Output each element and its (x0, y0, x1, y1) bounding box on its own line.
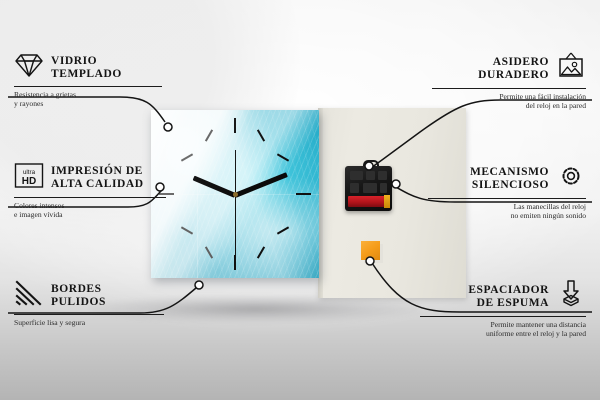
feature-title: ESPACIADOR DE ESPUMA (468, 284, 549, 309)
feature-title: ASIDERO DURADERO (478, 56, 549, 81)
feature-divider (14, 86, 162, 87)
foam-spacer (361, 241, 380, 260)
feature-description: Las manecillas del reloj no emiten ningú… (428, 202, 586, 221)
feature-bordes-pulidos: BORDES PULIDOS Superficie lisa y segura (14, 280, 164, 327)
feature-description: Permite una fácil instalación del reloj … (432, 92, 586, 111)
feature-description: Colores intensos e imagen vívida (14, 201, 166, 220)
feature-description: Resistencia a grietas y rayones (14, 90, 162, 109)
feature-title: VIDRIO TEMPLADO (51, 55, 122, 80)
feature-divider (14, 197, 166, 198)
battery-positive-cap (384, 195, 390, 208)
feature-title: BORDES PULIDOS (51, 283, 106, 308)
svg-text:HD: HD (22, 176, 36, 187)
feature-description: Superficie lisa y segura (14, 318, 164, 327)
feature-vidrio-templado: VIDRIO TEMPLADO Resistencia a grietas y … (14, 52, 162, 109)
infographic-canvas: VIDRIO TEMPLADO Resistencia a grietas y … (0, 0, 600, 400)
feature-impresion-alta-calidad: ultra HD IMPRESIÓN DE ALTA CALIDAD Color… (14, 162, 166, 220)
feature-divider (428, 198, 586, 199)
feature-title: MECANISMO SILENCIOSO (470, 166, 549, 191)
feature-description: Permite mantener una distancia uniforme … (420, 320, 586, 339)
beveled-edge-icon (14, 280, 44, 311)
feature-divider (420, 316, 586, 317)
foam-spacer-icon (556, 280, 586, 313)
ultra-hd-icon: ultra HD (14, 162, 44, 194)
hanging-frame-icon (556, 52, 586, 85)
feature-title: IMPRESIÓN DE ALTA CALIDAD (51, 165, 144, 190)
leader-dot-bordes (195, 281, 203, 289)
feature-mecanismo-silencioso: MECANISMO SILENCIOSO Las manecillas del … (428, 162, 586, 221)
svg-text:ultra: ultra (23, 169, 36, 176)
gear-icon (556, 162, 586, 195)
feature-espaciador-de-espuma: ESPACIADOR DE ESPUMA Permite mantener un… (420, 280, 586, 339)
clock-glass-gloss (151, 110, 319, 278)
battery (348, 196, 389, 207)
glass-wall-clock (151, 110, 319, 278)
feature-divider (432, 88, 586, 89)
feature-divider (14, 314, 164, 315)
diamond-icon (14, 52, 44, 83)
feature-asidero-duradero: ASIDERO DURADERO Permite una fácil insta… (432, 52, 586, 111)
